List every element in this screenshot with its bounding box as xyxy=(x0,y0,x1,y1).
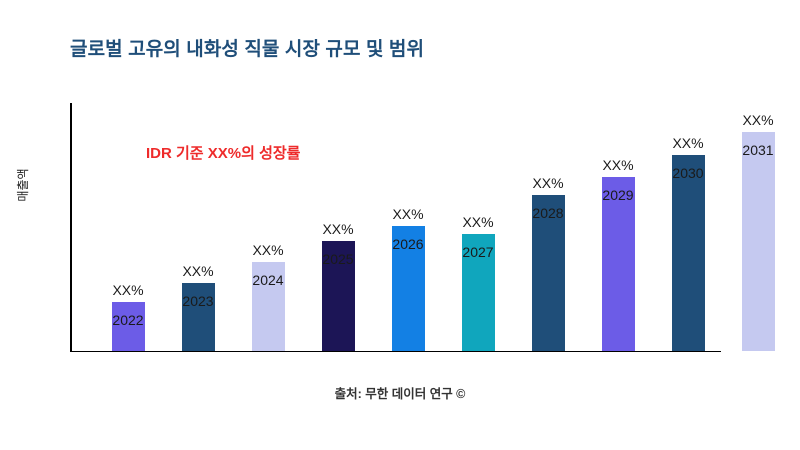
bar-value-label: XX% xyxy=(93,282,163,298)
bar-value-label: XX% xyxy=(513,175,583,191)
x-tick-2031: 2031 xyxy=(723,142,793,158)
bar-group[interactable]: XX%2027 xyxy=(443,234,513,351)
x-tick-2025: 2025 xyxy=(303,251,373,267)
bar-2029[interactable] xyxy=(602,177,635,351)
x-tick-2022: 2022 xyxy=(93,312,163,328)
x-tick-2029: 2029 xyxy=(583,187,653,203)
bar-2031[interactable] xyxy=(742,132,775,351)
bar-value-label: XX% xyxy=(373,206,443,222)
bar-value-label: XX% xyxy=(443,214,513,230)
x-tick-2030: 2030 xyxy=(653,165,723,181)
bar-2030[interactable] xyxy=(672,155,705,351)
x-tick-2028: 2028 xyxy=(513,205,583,221)
x-tick-2026: 2026 xyxy=(373,236,443,252)
bar-group[interactable]: XX%2029 xyxy=(583,177,653,351)
bar-value-label: XX% xyxy=(303,221,373,237)
bar-group[interactable]: XX%2030 xyxy=(653,155,723,351)
bar-value-label: XX% xyxy=(583,157,653,173)
x-tick-2027: 2027 xyxy=(443,244,513,260)
bar-group[interactable]: XX%2023 xyxy=(163,283,233,351)
bar-value-label: XX% xyxy=(653,135,723,151)
bar-group[interactable]: XX%2026 xyxy=(373,226,443,351)
bar-group[interactable]: XX%2024 xyxy=(233,262,303,351)
x-tick-2024: 2024 xyxy=(233,272,303,288)
bar-group[interactable]: XX%2031 xyxy=(723,132,793,351)
chart-container: 글로벌 고유의 내화성 직물 시장 규모 및 범위 매출액 IDR 기준 XX%… xyxy=(0,0,800,450)
x-tick-2023: 2023 xyxy=(163,293,233,309)
bar-group[interactable]: XX%2028 xyxy=(513,195,583,351)
bar-group[interactable]: XX%2022 xyxy=(93,302,163,351)
source-caption: 출처: 무한 데이터 연구 © xyxy=(0,383,800,402)
bar-value-label: XX% xyxy=(723,112,793,128)
bar-value-label: XX% xyxy=(233,242,303,258)
bar-group[interactable]: XX%2025 xyxy=(303,241,373,351)
bar-value-label: XX% xyxy=(163,263,233,279)
